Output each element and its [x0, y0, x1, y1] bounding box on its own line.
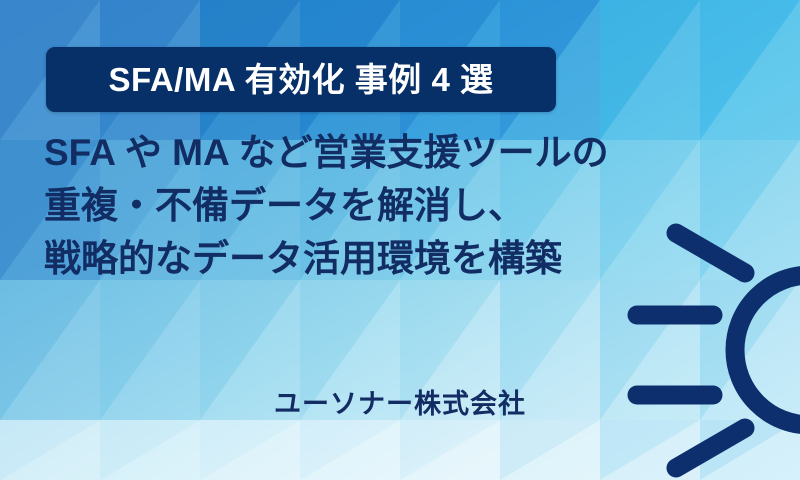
headline: SFA や MA など営業支援ツールの 重複・不備データを解消し、 戦略的なデー…: [44, 126, 684, 285]
category-badge: SFA/MA 有効化 事例 4 選: [46, 47, 556, 112]
headline-line-1: SFA や MA など営業支援ツールの: [44, 126, 684, 179]
title-slide: SFA/MA 有効化 事例 4 選 SFA や MA など営業支援ツールの 重複…: [0, 0, 800, 480]
company-name: ユーソナー株式会社: [0, 386, 800, 422]
headline-line-2: 重複・不備データを解消し、: [44, 179, 684, 232]
headline-line-3: 戦略的なデータ活用環境を構築: [44, 232, 684, 285]
category-badge-label: SFA/MA 有効化 事例 4 選: [109, 63, 494, 96]
